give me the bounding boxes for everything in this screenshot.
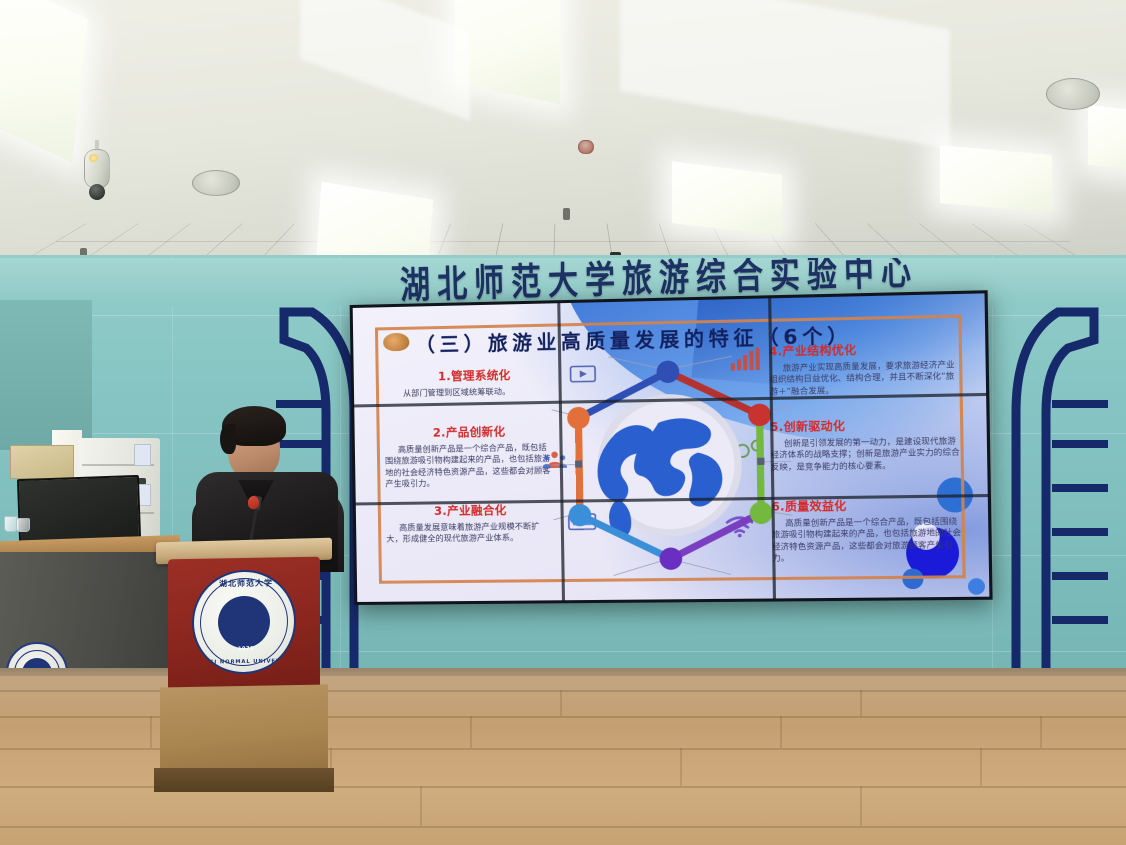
lecture-hall-photo: 湖北师范大学旅游综合实验中心 (0, 0, 1126, 845)
ceiling-speaker-icon (192, 170, 240, 196)
ceiling-light-panel (455, 0, 560, 104)
slide-item-heading: 2.产品创新化 (385, 423, 555, 442)
camera-body (84, 149, 110, 189)
slide-item-3: 3.产业融合化 高质量发展意味着旅游产业规模不断扩大，形成健全的现代旅游产业体系… (386, 501, 556, 545)
ptz-camera-icon (84, 140, 110, 202)
ceiling-light-panel (1088, 105, 1126, 171)
video-wall[interactable]: （三）旅游业高质量发展的特征（6个） 1.管理系统化 从部门管理到区域统筹联动。… (350, 290, 993, 605)
slide-item-body: 旅游产业实现高质量发展，要求旅游经济产业组织结构日益优化、结构合理，并且不断深化… (769, 359, 963, 398)
left-wall-panel (0, 300, 92, 450)
ceiling-light-panel (0, 0, 88, 162)
emblem-year: 1973 (194, 645, 296, 653)
ceiling-light-panel (940, 145, 1052, 213)
slide-item-heading: 3.产业融合化 (386, 501, 556, 519)
slide-item-heading: 6.质量效益化 (771, 496, 964, 515)
ceiling-light-glow (300, 0, 470, 121)
slide-item-1: 1.管理系统化 从部门管理到区域统筹联动。 (390, 366, 560, 400)
slide-item-2: 2.产品创新化 高质量创新产品是一个综合产品，既包括围绕旅游吸引物构建起来的产品… (385, 423, 556, 491)
desktop-monitor[interactable] (17, 475, 141, 543)
globe-hexagon-diagram (551, 345, 794, 584)
slide-item-heading: 4.产业结构优化 (769, 339, 962, 359)
ceiling-light-glow (620, 0, 950, 149)
wall-motif-right (1002, 292, 1110, 690)
ceiling-speaker-icon (1046, 78, 1100, 110)
camera-lens-dome (89, 184, 105, 200)
slide-item-4: 4.产业结构优化 旅游产业实现高质量发展，要求旅游经济产业组织结构日益优化、结构… (769, 339, 963, 398)
slide-item-body: 高质量创新产品是一个综合产品，既包括围绕旅游吸引物构建起来的产品，也包括旅游地的… (385, 442, 555, 491)
slide-item-body: 高质量发展意味着旅游产业规模不断扩大，形成健全的现代旅游产业体系。 (386, 520, 556, 545)
lectern: 湖北师范大学 1973 HUBEI NORMAL UNIVERSITY (156, 540, 332, 790)
slide-item-body: 高质量创新产品是一个综合产品，既包括围绕旅游吸引物构建起来的产品，也包括旅游地的… (772, 515, 966, 564)
presenter-hair (220, 424, 236, 454)
slide-decorative-circle (968, 578, 985, 595)
ceiling-sensor-icon (563, 208, 570, 220)
glassware (4, 500, 30, 536)
cabinet-label (134, 444, 151, 466)
storage-box (10, 445, 74, 479)
ceiling (0, 0, 1126, 292)
university-emblem: 湖北师范大学 1973 HUBEI NORMAL UNIVERSITY (192, 569, 296, 675)
lectern-plinth (154, 768, 334, 792)
emblem-chinese-name: 湖北师范大学 (194, 577, 296, 590)
slide-item-6: 6.质量效益化 高质量创新产品是一个综合产品，既包括围绕旅游吸引物构建起来的产品… (771, 496, 965, 565)
smoke-detector-icon (578, 140, 594, 154)
slide-item-5: 5.创新驱动化 创新是引领发展的第一动力，是建设现代旅游经济体系的战略支撑；创新… (770, 415, 964, 473)
camera-led (89, 154, 98, 162)
lectern-front-panel: 湖北师范大学 1973 HUBEI NORMAL UNIVERSITY (168, 557, 320, 692)
emblem-english-name: HUBEI NORMAL UNIVERSITY (194, 658, 296, 666)
slide-title-ornament-icon (383, 333, 409, 352)
microphone-icon (248, 496, 259, 509)
slide-item-heading: 5.创新驱动化 (770, 415, 963, 435)
slide-item-heading: 1.管理系统化 (390, 366, 560, 385)
slide-item-body: 创新是引领发展的第一动力，是建设现代旅游经济体系的战略支撑；创新是旅游产业实力的… (770, 435, 964, 473)
presentation-slide: （三）旅游业高质量发展的特征（6个） 1.管理系统化 从部门管理到区域统筹联动。… (353, 293, 990, 602)
